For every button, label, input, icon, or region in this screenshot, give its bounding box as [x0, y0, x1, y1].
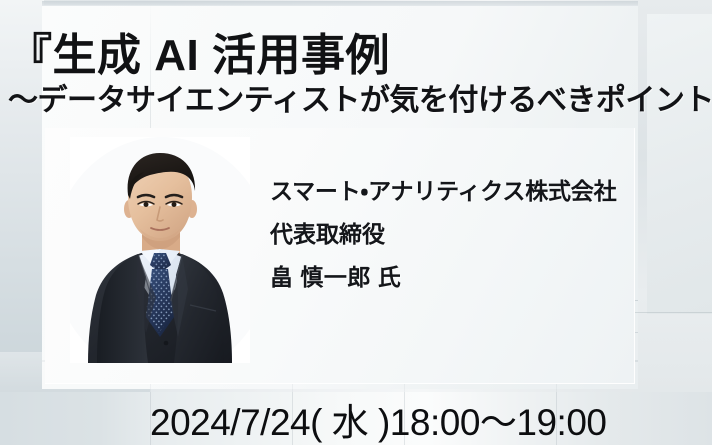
- page-title: 『生成 AI 活用事例: [8, 34, 712, 78]
- speaker-organization: スマート・アナリティクス株式会社: [270, 180, 690, 203]
- date-banner: 2024/7/24( 水 )18:00〜19:00: [0, 392, 712, 445]
- page-subtitle-text: 〜データサイエンティストが気を付けるべきポイント〜: [8, 84, 712, 117]
- speaker-name: 畠 慎一郎 氏: [270, 266, 690, 289]
- seminar-banner: 『生成 AI 活用事例 〜データサイエンティストが気を付けるべきポイント〜』 ス…: [0, 0, 712, 445]
- speaker-photo: [70, 137, 250, 363]
- speaker-info: スマート・アナリティクス株式会社 代表取締役 畠 慎一郎 氏: [270, 180, 690, 289]
- speaker-role: 代表取締役: [270, 223, 690, 246]
- page-subtitle: 〜データサイエンティストが気を付けるべきポイント〜』: [8, 80, 712, 124]
- title-block: 『生成 AI 活用事例 〜データサイエンティストが気を付けるべきポイント〜』: [8, 34, 712, 124]
- portrait-illustration: [70, 137, 250, 363]
- event-datetime: 2024/7/24( 水 )18:00〜19:00: [150, 392, 607, 445]
